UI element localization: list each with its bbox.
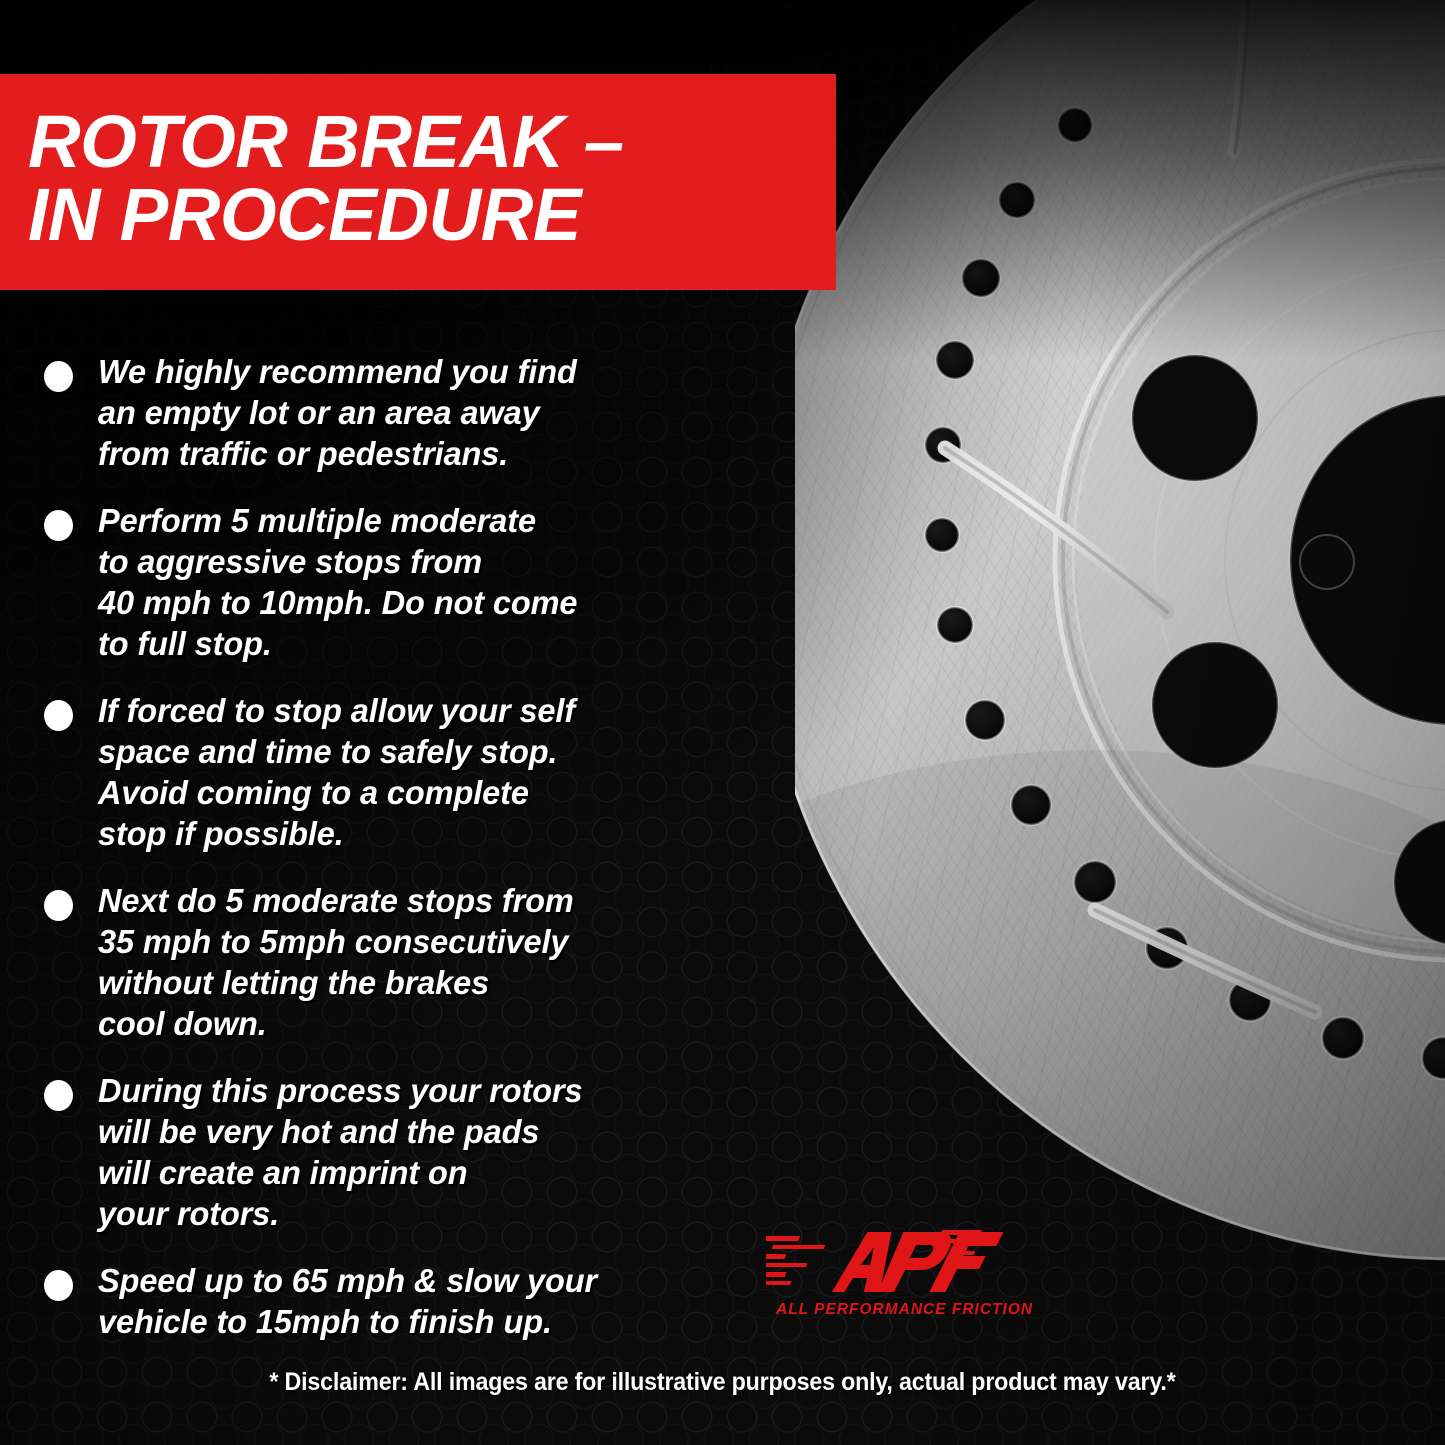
list-item: We highly recommend you find an empty lo… [44,352,754,475]
bullet-dot-icon [44,1080,73,1111]
page-title-line-1: ROTOR BREAK – [28,106,824,179]
apf-logo: ALL PERFORMANCE FRICTION [766,1224,1016,1329]
bullet-dot-icon [44,890,73,921]
bullet-dot-icon [44,1270,73,1301]
list-item-text: If forced to stop allow your self space … [98,691,575,855]
list-item: Perform 5 multiple moderate to aggressiv… [44,501,754,665]
list-item: During this process your rotors will be … [44,1071,754,1235]
title-banner: ROTOR BREAK – IN PROCEDURE [0,74,836,290]
bullet-dot-icon [44,510,73,541]
list-item: If forced to stop allow your self space … [44,691,754,855]
disclaimer-text: * Disclaimer: All images are for illustr… [51,1368,1395,1397]
list-item-text: Perform 5 multiple moderate to aggressiv… [98,501,577,665]
list-item-text: During this process your rotors will be … [98,1071,582,1235]
apf-wordmark-icon [766,1224,1016,1302]
bullet-dot-icon [44,700,73,731]
list-item-text: Speed up to 65 mph & slow your vehicle t… [98,1261,597,1343]
apf-tagline: ALL PERFORMANCE FRICTION [776,1301,1016,1319]
page-title-line-2: IN PROCEDURE [28,179,824,252]
list-item-text: We highly recommend you find an empty lo… [98,352,577,475]
list-item-text: Next do 5 moderate stops from 35 mph to … [98,881,574,1045]
bullet-dot-icon [44,361,73,392]
procedure-steps-list: We highly recommend you find an empty lo… [44,352,754,1343]
list-item: Next do 5 moderate stops from 35 mph to … [44,881,754,1045]
list-item: Speed up to 65 mph & slow your vehicle t… [44,1261,754,1343]
poster-canvas: ROTOR BREAK – IN PROCEDURE We highly rec… [0,0,1445,1445]
